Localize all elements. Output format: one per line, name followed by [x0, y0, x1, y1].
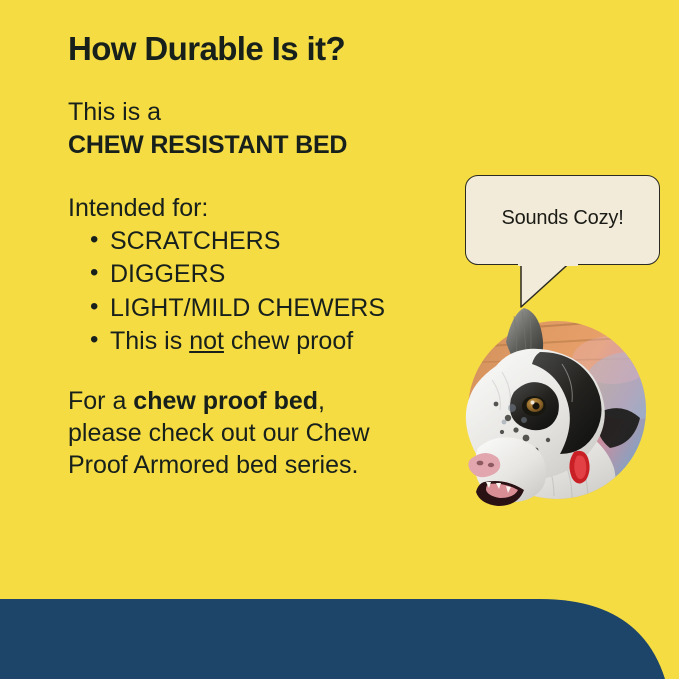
page-title: How Durable Is it? — [68, 30, 468, 68]
disclaimer-prefix: This is — [110, 327, 189, 355]
closing-prefix: For a — [68, 387, 133, 415]
closing-line-2: please check out our Chew — [68, 417, 468, 449]
closing-line-1: For a chew proof bed, — [68, 385, 468, 417]
list-item: LIGHT/MILD CHEWERS — [68, 292, 468, 326]
dog-photo — [462, 300, 658, 510]
disclaimer-suffix: chew proof — [224, 327, 353, 355]
infographic-canvas: How Durable Is it? This is a CHEW RESIST… — [0, 0, 679, 679]
speech-bubble-tail-icon — [518, 258, 578, 310]
intended-label: Intended for: — [68, 192, 468, 225]
list-item-label: SCRATCHERS — [110, 227, 280, 255]
intro-line-1: This is a — [68, 96, 468, 129]
disclaimer-emphasis: not — [189, 327, 224, 355]
text-column: How Durable Is it? This is a CHEW RESIST… — [68, 30, 468, 481]
list-item-disclaimer: This is not chew proof — [68, 325, 468, 359]
intro-line-2: CHEW RESISTANT BED — [68, 129, 468, 162]
closing-emphasis: chew proof bed — [133, 387, 318, 415]
speech-bubble: Sounds Cozy! — [465, 175, 660, 265]
list-item-label: LIGHT/MILD CHEWERS — [110, 294, 385, 322]
speech-bubble-text: Sounds Cozy! — [466, 207, 659, 230]
list-item: SCRATCHERS — [68, 225, 468, 259]
list-item: DIGGERS — [68, 258, 468, 292]
list-item-label: DIGGERS — [110, 260, 225, 288]
spacer-after-list — [68, 359, 468, 385]
intended-list: SCRATCHERS DIGGERS LIGHT/MILD CHEWERS Th… — [68, 225, 468, 359]
closing-line-3: Proof Armored bed series. — [68, 449, 468, 481]
dog-collar-tag — [569, 451, 589, 484]
closing-suffix: , — [318, 387, 325, 415]
spacer-after-intro — [68, 162, 468, 192]
bottom-navy-band — [0, 599, 679, 679]
